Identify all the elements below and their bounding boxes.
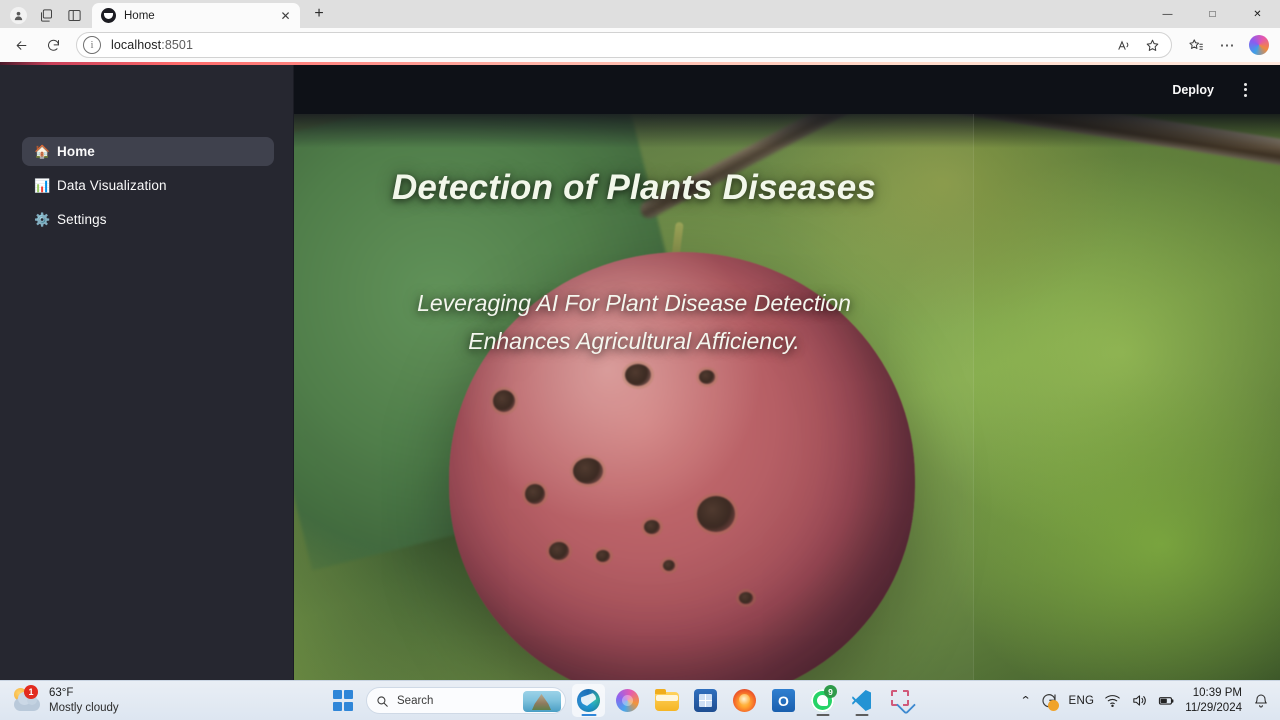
weather-widget[interactable]: 1 63°F Mostly cloudy	[0, 686, 300, 715]
taskbar-app-vs-code[interactable]	[845, 684, 878, 717]
system-tray: ⌃ ENG 10:39 PM 11/29/2024	[1021, 686, 1280, 715]
bar-chart-icon: 📊	[34, 179, 49, 192]
clock-time: 10:39 PM	[1185, 686, 1242, 700]
copilot-icon	[616, 689, 639, 712]
minimize-button[interactable]: —	[1145, 0, 1190, 28]
outlook-icon	[772, 689, 795, 712]
app-sidebar: 🏠 Home 📊 Data Visualization ⚙️ Settings	[0, 65, 294, 680]
close-window-button[interactable]: ✕	[1235, 0, 1280, 28]
sidebar-item-home[interactable]: 🏠 Home	[22, 137, 274, 166]
hero-text-block: Detection of Plants Diseases Leveraging …	[294, 114, 1280, 680]
sun-behind-cloud-icon: 1	[12, 687, 42, 715]
browser-window: Home ✕ + — □ ✕ i localhost:8501	[0, 0, 1280, 680]
taskbar-app-copilot[interactable]	[611, 684, 644, 717]
onedrive-sync-icon[interactable]	[1040, 692, 1058, 710]
profile-avatar-icon[interactable]	[4, 2, 32, 28]
browser-tab[interactable]: Home ✕	[92, 3, 300, 28]
home-icon: 🏠	[34, 145, 49, 158]
taskbar-app-outlook[interactable]	[767, 684, 800, 717]
reload-icon[interactable]	[38, 31, 68, 59]
taskbar-app-snipping-tool[interactable]	[884, 684, 917, 717]
taskbar-app-firefox[interactable]	[728, 684, 761, 717]
weather-condition: Mostly cloudy	[49, 701, 119, 715]
sidebar-item-label: Settings	[57, 212, 107, 227]
copilot-orb	[1249, 35, 1269, 55]
taskbar-app-file-explorer[interactable]	[650, 684, 683, 717]
wifi-icon[interactable]	[1104, 692, 1121, 709]
taskbar-app-whatsapp[interactable]: 9	[806, 684, 839, 717]
tab-strip: Home ✕ + — □ ✕	[0, 0, 1280, 28]
deploy-button[interactable]: Deploy	[1166, 79, 1220, 101]
edge-icon	[577, 689, 600, 712]
clock[interactable]: 10:39 PM 11/29/2024	[1185, 686, 1242, 715]
split-screen-icon[interactable]	[60, 2, 88, 28]
tab-title: Home	[124, 10, 277, 22]
tab-collections-icon[interactable]	[32, 2, 60, 28]
site-info-icon[interactable]: i	[83, 36, 101, 54]
highlight-thumbnail[interactable]	[523, 691, 561, 712]
window-controls: — □ ✕	[1145, 0, 1280, 28]
streamlit-accent-bar	[0, 62, 1280, 65]
avatar	[10, 7, 27, 24]
streamlit-favicon-icon	[101, 8, 116, 23]
back-arrow-icon[interactable]	[6, 31, 36, 59]
start-button[interactable]	[326, 685, 360, 717]
cut-off-text	[384, 670, 884, 680]
collections-star-icon[interactable]	[1180, 31, 1210, 59]
windows-taskbar: 1 63°F Mostly cloudy Search	[0, 680, 1280, 720]
url-host: localhost	[111, 38, 161, 52]
new-tab-button[interactable]: +	[306, 1, 332, 27]
whatsapp-badge: 9	[824, 685, 837, 698]
address-bar[interactable]: i localhost:8501	[76, 32, 1172, 58]
url-port: :8501	[161, 38, 193, 52]
app-header: Deploy	[294, 65, 1280, 114]
battery-icon[interactable]	[1158, 692, 1175, 709]
hero-image: Detection of Plants Diseases Leveraging …	[294, 114, 1280, 680]
taskbar-app-microsoft-store[interactable]	[689, 684, 722, 717]
snip-icon	[889, 689, 912, 712]
sidebar-nav: 🏠 Home 📊 Data Visualization ⚙️ Settings	[22, 137, 274, 234]
folder-icon	[655, 692, 679, 711]
browser-toolbar: i localhost:8501 ⋯	[0, 28, 1280, 62]
more-options-icon[interactable]: ⋯	[1212, 31, 1242, 59]
language-indicator[interactable]: ENG	[1068, 695, 1094, 707]
windows-logo-icon	[333, 690, 354, 711]
sidebar-item-settings[interactable]: ⚙️ Settings	[22, 205, 274, 234]
app-main: Deploy	[294, 65, 1280, 680]
weather-temperature: 63°F	[49, 686, 119, 700]
maximize-button[interactable]: □	[1190, 0, 1235, 28]
speaker-icon[interactable]	[1131, 692, 1148, 709]
gear-icon: ⚙️	[34, 213, 49, 226]
clock-date: 11/29/2024	[1185, 701, 1242, 715]
taskbar-center: Search 9	[326, 684, 917, 717]
copilot-orb-icon[interactable]	[1244, 31, 1274, 59]
url-text: localhost:8501	[111, 38, 193, 52]
read-aloud-icon[interactable]	[1111, 33, 1137, 57]
firefox-icon	[733, 689, 756, 712]
search-icon	[375, 694, 389, 708]
show-hidden-icons-icon[interactable]: ⌃	[1020, 694, 1032, 707]
search-placeholder: Search	[397, 695, 433, 707]
web-page: 🏠 Home 📊 Data Visualization ⚙️ Settings …	[0, 62, 1280, 680]
page-title: Detection of Plants Diseases	[294, 168, 974, 208]
close-icon[interactable]: ✕	[277, 7, 294, 24]
omnibox-actions	[1111, 33, 1165, 57]
notification-bell-icon[interactable]	[1252, 692, 1270, 710]
kebab-menu-icon[interactable]	[1234, 77, 1256, 103]
page-subtitle: Leveraging AI For Plant Disease Detectio…	[384, 284, 884, 360]
vscode-icon	[850, 689, 873, 712]
notification-badge: 1	[24, 685, 38, 699]
star-icon[interactable]	[1139, 33, 1165, 57]
sidebar-item-data-visualization[interactable]: 📊 Data Visualization	[22, 171, 274, 200]
search-input[interactable]: Search	[366, 687, 566, 714]
store-icon	[694, 689, 717, 712]
sidebar-item-label: Data Visualization	[57, 178, 167, 193]
weather-text: 63°F Mostly cloudy	[49, 686, 119, 715]
taskbar-app-edge[interactable]	[572, 684, 605, 717]
sidebar-item-label: Home	[57, 144, 95, 159]
